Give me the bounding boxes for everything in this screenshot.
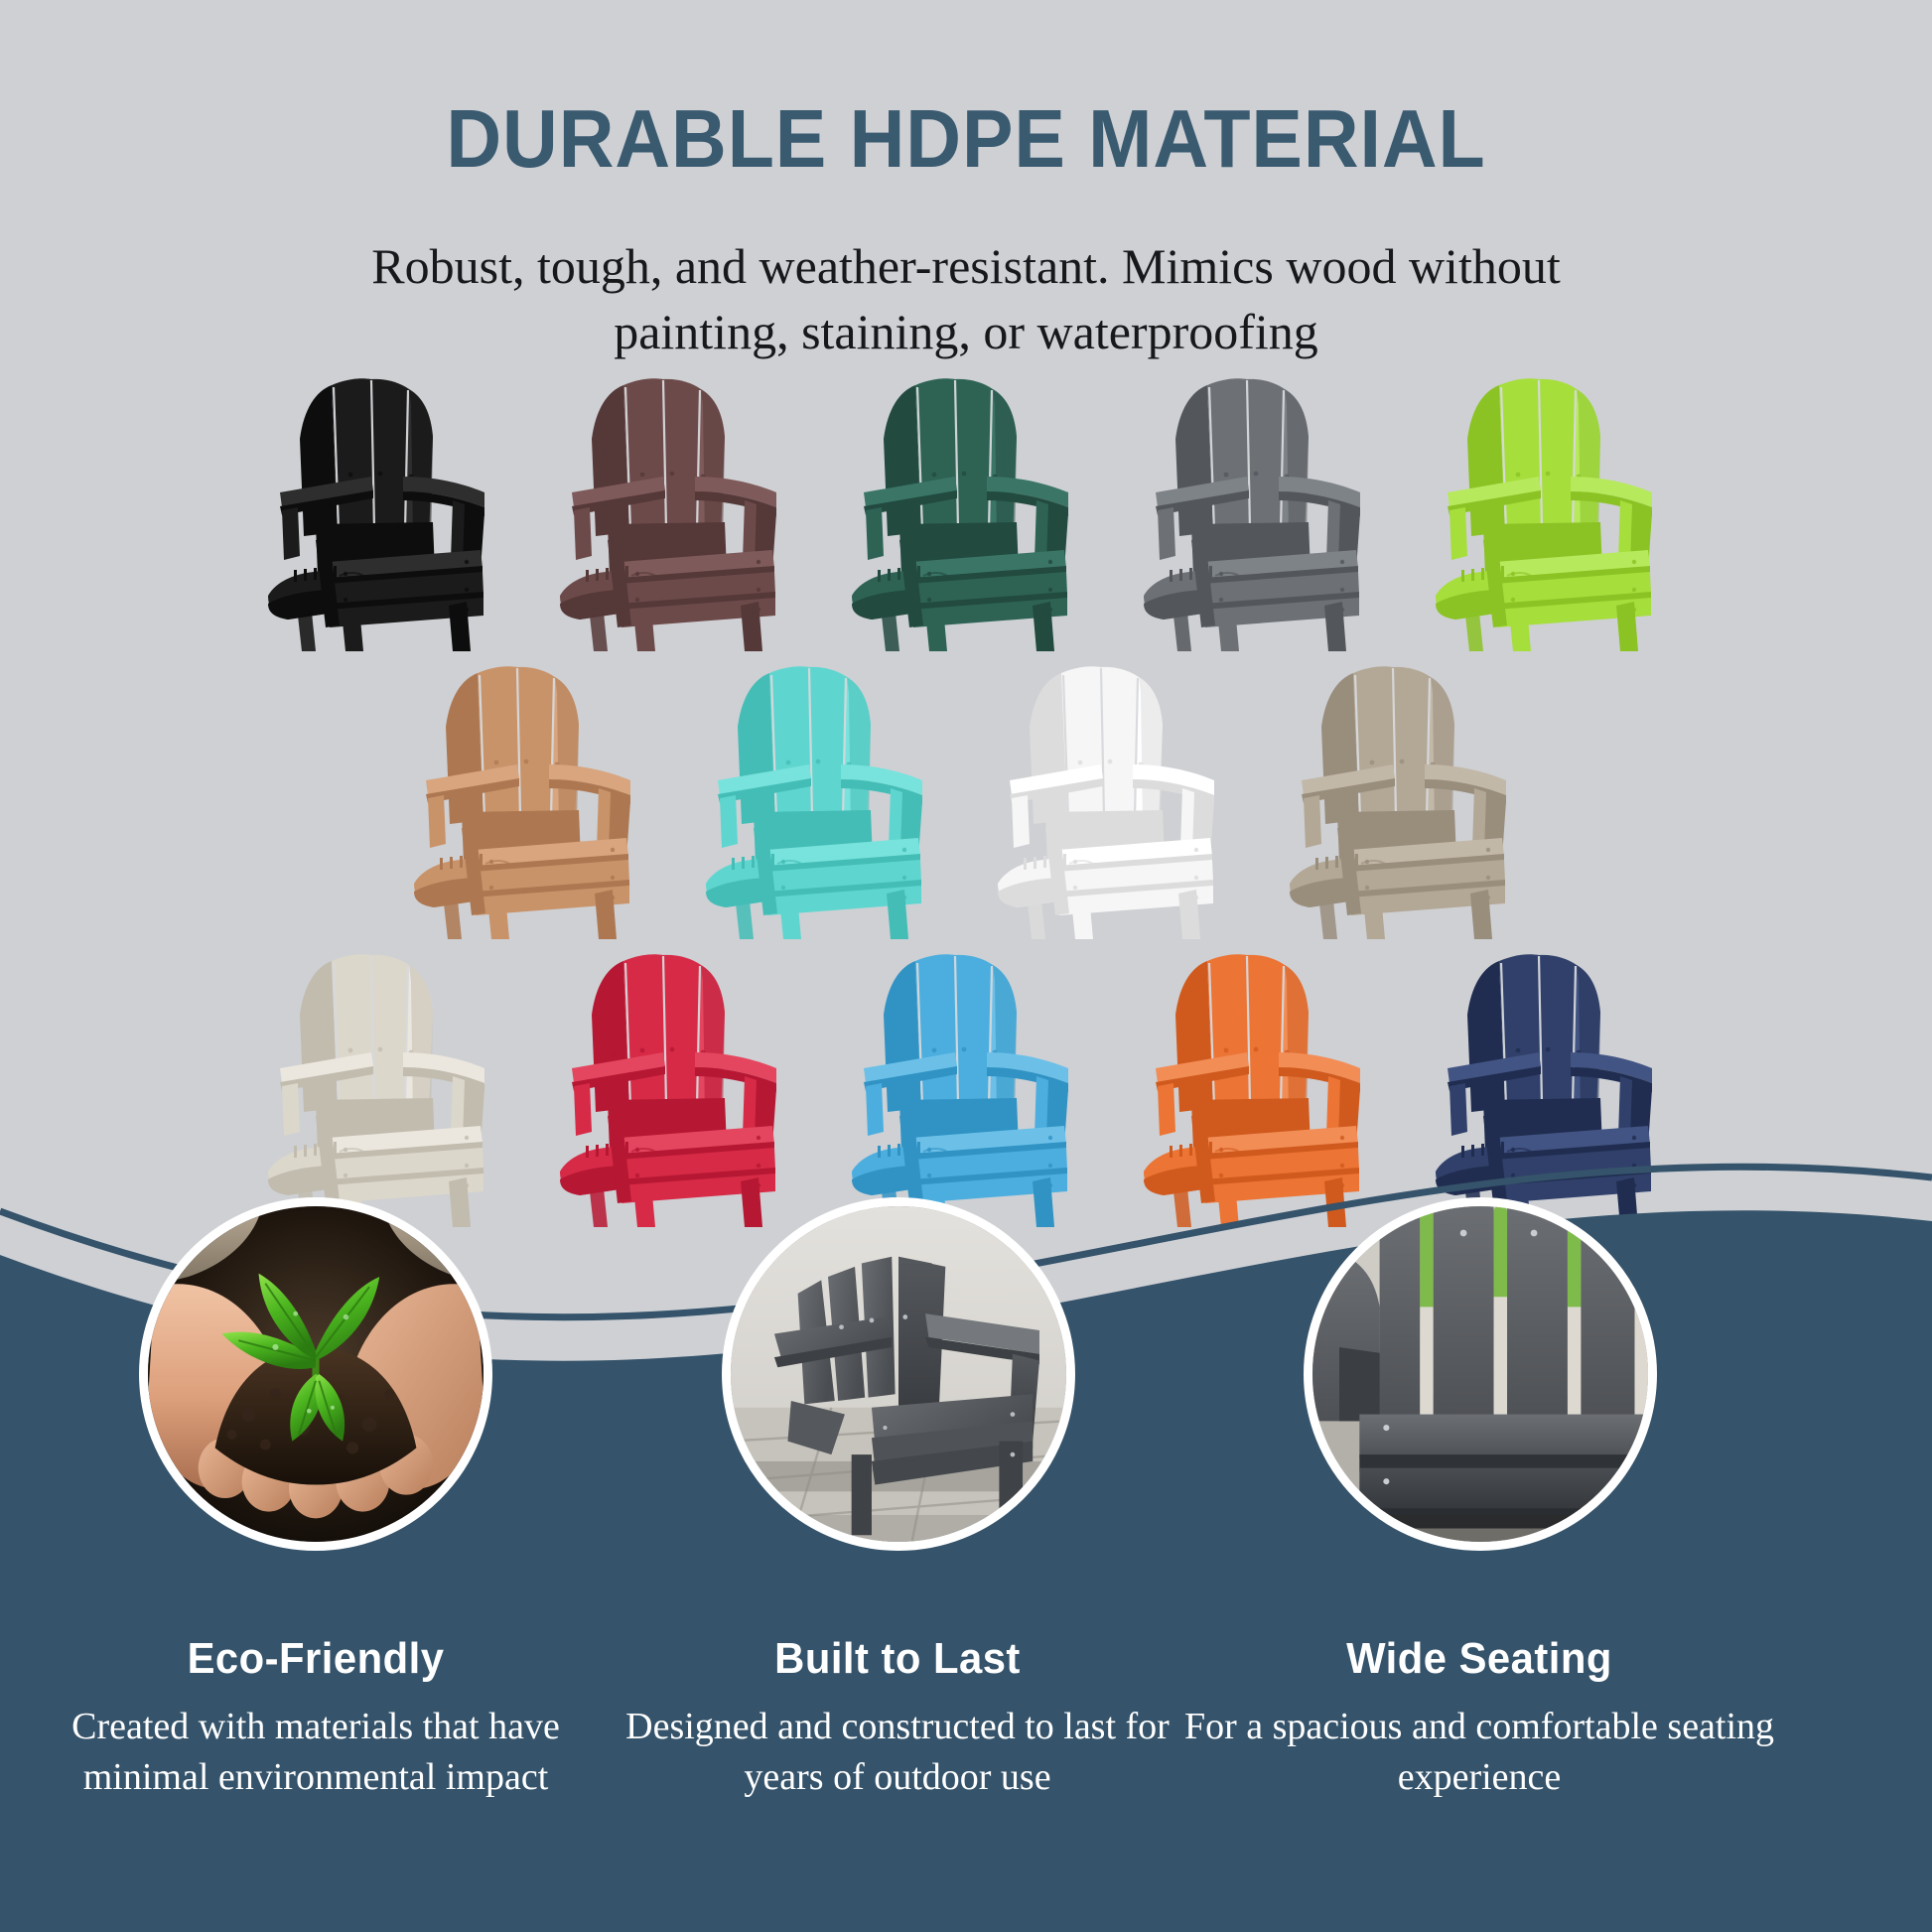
feature-title: Eco-Friendly [33,1634,599,1684]
feature-title: Wide Seating [1196,1634,1762,1684]
chair-swatch-taupe[interactable] [1258,653,1550,943]
chair-swatch-dark-green[interactable] [820,365,1112,655]
chair-swatch-turquoise[interactable] [674,653,966,943]
adirondack-chair-icon [254,365,510,651]
feature-photo-wide-seating [1304,1197,1657,1551]
chair-swatch-lime-green[interactable] [1404,365,1696,655]
adirondack-chair-icon [692,653,948,939]
chair-row-1 [0,365,1932,655]
feature-description: Created with materials that have minimal… [18,1702,614,1802]
adirondack-chair-icon [400,653,656,939]
chair-swatch-brown[interactable] [528,365,820,655]
adirondack-chair-icon [1130,365,1386,651]
feature-photo-eco-friendly [139,1197,492,1551]
infographic-canvas: DURABLE HDPE MATERIAL Robust, tough, and… [0,0,1932,1932]
chair-swatch-white[interactable] [966,653,1258,943]
adirondack-chair-icon [984,653,1240,939]
chair-swatch-teak[interactable] [382,653,674,943]
feature-title: Built to Last [615,1634,1180,1684]
adirondack-chair-icon [546,365,802,651]
page-subtitle: Robust, tough, and weather-resistant. Mi… [286,233,1646,364]
chair-swatch-gray[interactable] [1112,365,1404,655]
feature-description: For a spacious and comfortable seating e… [1181,1702,1777,1802]
chair-row-2 [0,653,1932,943]
adirondack-chair-icon [838,365,1094,651]
chair-swatch-black[interactable] [236,365,528,655]
page-title: DURABLE HDPE MATERIAL [68,91,1864,187]
feature-caption-eco-friendly: Eco-Friendly Created with materials that… [18,1634,614,1802]
feature-caption-wide-seating: Wide Seating For a spacious and comforta… [1181,1634,1777,1802]
feature-caption-built-to-last: Built to Last Designed and constructed t… [600,1634,1195,1802]
adirondack-chair-icon [1422,365,1678,651]
feature-description: Designed and constructed to last for yea… [600,1702,1195,1802]
feature-photo-built-to-last [722,1197,1075,1551]
adirondack-chair-icon [1276,653,1532,939]
